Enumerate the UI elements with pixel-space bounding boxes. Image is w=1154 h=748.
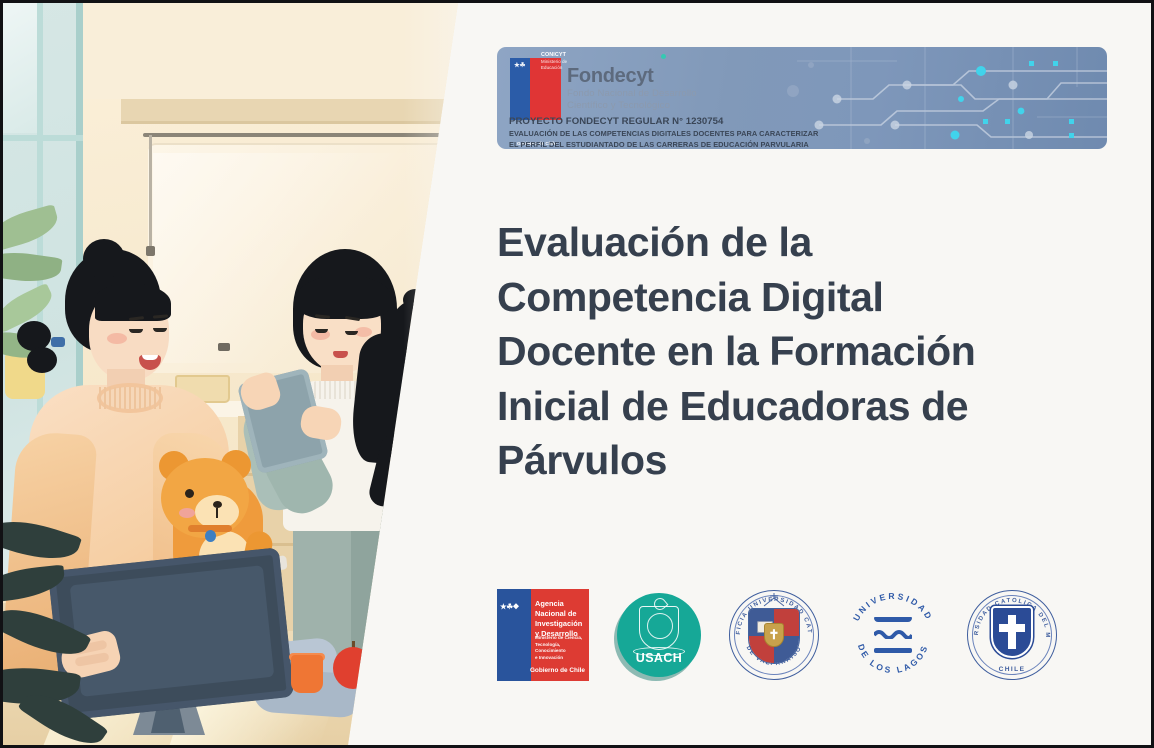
teddy-bear-tag bbox=[205, 530, 216, 542]
anid-ministry-line3: e Innovación bbox=[535, 655, 587, 662]
woman-hair-bun bbox=[83, 239, 125, 279]
whiteboard-clip bbox=[218, 343, 230, 351]
wave-bar bbox=[874, 617, 912, 622]
fondecyt-subtitle-line2: Científico y Tecnológico bbox=[567, 100, 697, 112]
wave-squiggle bbox=[874, 628, 912, 639]
slide-canvas: ★☘ CONICYT Ministerio de Educación Gobie… bbox=[0, 0, 1154, 748]
fondecyt-wordmark: Fondecyt Fondo Nacional de Desarrollo Ci… bbox=[567, 66, 697, 111]
red-apple bbox=[333, 647, 373, 689]
teddy-bear-muzzle-line bbox=[216, 508, 218, 518]
ucm-country-text: CHILE bbox=[967, 666, 1057, 673]
teddy-bear-nose bbox=[213, 501, 222, 508]
pucv-crown-icon bbox=[761, 592, 787, 608]
anid-name-line1: Agencia bbox=[535, 599, 587, 609]
project-description: EVALUACIÓN DE LAS COMPETENCIAS DIGITALES… bbox=[509, 129, 818, 149]
fondecyt-brand-text: Fondecyt bbox=[567, 66, 697, 86]
classroom-illustration bbox=[3, 3, 473, 745]
pucv-center-charge: ✝ bbox=[764, 623, 784, 647]
cross-icon: ✝ bbox=[769, 628, 780, 641]
orange-cup bbox=[291, 655, 323, 693]
hanging-cord bbox=[149, 135, 152, 247]
conicyt-agency-text: CONICYT bbox=[541, 52, 566, 58]
anid-government-text: Gobierno de Chile bbox=[530, 667, 585, 674]
content-panel: ★☘ CONICYT Ministerio de Educación Gobie… bbox=[473, 3, 1151, 745]
project-description-line2: EL PERFIL DEL ESTUDIANTADO DE LAS CARRER… bbox=[509, 140, 818, 149]
woman-hair-tie bbox=[51, 337, 65, 347]
coat-of-arms-icon: ★☘ bbox=[514, 63, 538, 83]
water-waves-icon bbox=[874, 613, 912, 657]
usach-acronym-text: USACH bbox=[617, 651, 701, 665]
girl-eye bbox=[315, 329, 328, 333]
anid-blue-panel: ★☘❖ bbox=[497, 589, 531, 681]
usach-crest-icon bbox=[639, 606, 679, 650]
cross-horizontal bbox=[999, 624, 1025, 632]
project-description-line1: EVALUACIÓN DE LAS COMPETENCIAS DIGITALES… bbox=[509, 129, 818, 140]
woman-cheek bbox=[107, 333, 127, 344]
girl-eye bbox=[345, 331, 358, 335]
anid-ministry-line1: Ministerio de Ciencia, bbox=[535, 635, 587, 642]
anid-name-line3: Investigación bbox=[535, 619, 587, 629]
logo-anid: ★☘❖ Agencia Nacional de Investigación y … bbox=[497, 589, 589, 681]
teddy-bear-cheek bbox=[179, 508, 195, 518]
banner-accent-dot bbox=[661, 54, 666, 59]
child-hair-tie bbox=[427, 297, 439, 307]
fondecyt-subtitle: Fondo Nacional de Desarrollo Científico … bbox=[567, 88, 697, 111]
circuit-pattern-icon bbox=[777, 47, 1107, 149]
window-frame-horizontal bbox=[3, 135, 83, 141]
woman-eye bbox=[153, 328, 167, 332]
anid-name-text: Agencia Nacional de Investigación y Desa… bbox=[535, 599, 587, 639]
girl-bangs bbox=[297, 275, 391, 319]
fondecyt-banner: ★☘ CONICYT Ministerio de Educación Gobie… bbox=[497, 47, 1107, 149]
anid-ministry-line2: Tecnología, Conocimiento bbox=[535, 642, 587, 655]
anid-ministry-text: Ministerio de Ciencia, Tecnología, Conoc… bbox=[535, 635, 587, 661]
partner-logos-row: ★☘❖ Agencia Nacional de Investigación y … bbox=[497, 581, 1087, 689]
logo-usach: USACH bbox=[617, 593, 701, 677]
project-number-text: PROYECTO FONDECYT REGULAR N° 1230754 bbox=[509, 117, 723, 127]
woman-collar-ribbing bbox=[99, 387, 161, 409]
logo-ucm: UNIVERSIDAD CATOLICA DEL MAULE CHILE bbox=[967, 590, 1057, 680]
coat-of-arms-icon: ★☘❖ bbox=[500, 603, 530, 627]
wave-bar bbox=[874, 648, 912, 653]
cross-icon bbox=[999, 615, 1025, 649]
teddy-bear-eye bbox=[185, 489, 194, 498]
window-glass-highlight bbox=[3, 3, 37, 133]
fondecyt-subtitle-line1: Fondo Nacional de Desarrollo bbox=[567, 88, 697, 100]
woman-eye bbox=[129, 329, 143, 333]
flag-blue-panel: ★☘ bbox=[510, 58, 530, 120]
ucm-shield-icon bbox=[991, 606, 1033, 658]
anid-name-line2: Nacional de bbox=[535, 609, 587, 619]
illustration-edge-fade bbox=[403, 3, 473, 745]
girl-mouth bbox=[333, 351, 348, 358]
woman-braid bbox=[27, 347, 57, 373]
page-title: Evaluación de la Competencia Digital Doc… bbox=[497, 215, 1037, 488]
cross-vertical bbox=[1008, 615, 1016, 649]
logo-pucv: PONTIFICIA UNIVERSIDAD CATÓLICA DE VALPA… bbox=[729, 590, 819, 680]
logo-ulagos: UNIVERSIDAD DE LOS LAGOS bbox=[847, 589, 939, 681]
